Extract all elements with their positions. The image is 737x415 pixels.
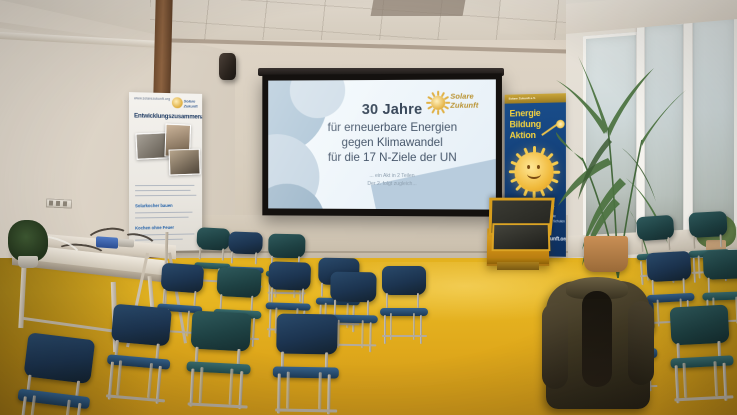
chair-back-post — [417, 293, 419, 308]
chair-back-post — [641, 239, 644, 252]
sun-ray — [547, 185, 554, 192]
banner-left-logo-text: Solare Zukunft — [184, 98, 198, 108]
banner-left-title: Entwicklungszusammenarbeit — [134, 112, 198, 120]
chair[interactable] — [106, 304, 172, 402]
banner-left-logo: Solare Zukunft — [172, 96, 199, 111]
chair-backrest — [216, 267, 261, 298]
sun-ray — [540, 189, 545, 196]
chair-back-post — [255, 252, 257, 264]
chair-backrest — [23, 332, 95, 384]
slide-line-2: gegen Klimawandel — [298, 136, 488, 150]
chair-backrest — [160, 263, 204, 294]
chair-backrest — [670, 305, 730, 346]
chair-backrest — [268, 234, 305, 259]
solar-cooker-absorber-panel — [492, 223, 551, 251]
sun-ray — [509, 171, 516, 174]
chair-backrest — [646, 251, 691, 282]
chair-back-post — [163, 289, 166, 304]
chair-backrest — [330, 272, 377, 303]
sun-ray — [515, 184, 522, 191]
projection-slide: Solare Zukunft 30 Jahre für erneuerbare … — [268, 79, 496, 209]
banner-title-line-3: Aktion — [510, 130, 542, 141]
chair-back-post — [193, 291, 196, 306]
chair-leg — [199, 367, 204, 403]
chair-back-post — [652, 280, 655, 295]
solar-cooker-stand — [497, 262, 539, 270]
chair-leg — [384, 315, 386, 344]
chair-back-post — [271, 287, 274, 302]
banner-title-line-2: Bildung — [510, 119, 542, 130]
chair-leg — [693, 258, 696, 283]
chair-backrest — [382, 266, 426, 295]
slide-text-block: 30 Jahre für erneuerbare Energien gegen … — [298, 102, 488, 189]
sun-ray — [441, 92, 445, 97]
sun-ray — [515, 153, 522, 160]
chair-back-post — [708, 278, 711, 294]
chair[interactable] — [188, 311, 252, 409]
sun-ray — [510, 178, 517, 183]
outlet-socket — [56, 201, 60, 206]
outlet-socket — [63, 201, 67, 206]
wall-speaker — [219, 53, 236, 80]
banner-right-title: Energie Bildung Aktion — [510, 108, 542, 141]
slide-heading: 30 Jahre — [298, 102, 488, 120]
banner-left-url: www.solarezukunft.org — [134, 96, 170, 101]
chair-back-post — [302, 288, 305, 303]
chair-back-post — [720, 234, 723, 247]
sun-ray — [444, 96, 449, 100]
chair-back-post — [199, 247, 202, 259]
banner-text-line — [135, 190, 190, 192]
chair-back-post — [251, 296, 254, 311]
sun-icon — [172, 97, 183, 108]
sun-ray — [533, 146, 536, 153]
sun-ray — [437, 91, 439, 96]
sun-ray — [523, 189, 528, 196]
chair-leg — [286, 372, 290, 409]
slide-subtext-2: Der 2. folgt zugleich... — [298, 180, 488, 189]
chair-leg — [116, 360, 122, 395]
slide-line-1: für erneuerbare Energien — [298, 120, 488, 134]
smiling-sun-icon — [514, 152, 553, 192]
chair-backrest — [703, 249, 737, 280]
slide-subtext: ... ein Akt in 2 Teilen Der 2. folgt zug… — [298, 172, 488, 189]
rollup-banner-left: www.solarezukunft.org Solare Zukunft Ent… — [129, 92, 202, 252]
chair-leg — [640, 261, 644, 285]
chair-backrest — [276, 313, 338, 354]
chair-back-post — [693, 236, 696, 249]
banner-text-line — [135, 185, 194, 187]
chair[interactable] — [382, 266, 426, 336]
chair-backrest — [111, 304, 172, 347]
chair-leg — [238, 371, 243, 409]
chair-leg — [147, 363, 153, 398]
chair-back-post — [231, 252, 233, 264]
jacket-sleeve — [542, 303, 568, 389]
chair-back-post — [367, 300, 369, 316]
banner-photo — [169, 149, 201, 176]
chair-seat — [266, 302, 311, 311]
chair-back-post — [386, 293, 388, 308]
projection-screen: Solare Zukunft 30 Jahre für erneuerbare … — [262, 73, 502, 216]
banner-title-line-1: Energie — [510, 108, 542, 120]
chair[interactable] — [275, 313, 338, 412]
sun-ray — [510, 161, 517, 166]
sun-ray — [427, 96, 432, 100]
sun-smile — [527, 169, 541, 179]
chair-back-post — [321, 283, 323, 297]
logo-line-1: Solare — [450, 92, 478, 101]
sun-ray — [523, 148, 528, 155]
chair-backrest — [688, 211, 727, 238]
palm-plant-pot — [584, 236, 628, 272]
banner-text-line — [135, 195, 196, 197]
banner-text-line — [135, 212, 192, 214]
seminar-room-scene: Solare Zukunft 30 Jahre für erneuerbare … — [0, 0, 737, 415]
banner-left-subhead-1: Solarkocher bauen — [135, 203, 173, 208]
banner-left-subhead-2: Kochen ohne Feuer — [135, 225, 174, 231]
chair-leg — [189, 369, 194, 407]
sun-ray — [540, 147, 545, 154]
banner-text-line — [135, 217, 188, 219]
sun-ray — [431, 92, 435, 97]
chair-leg — [318, 372, 322, 409]
slide-line-3: für die 17 N-Ziele der UN — [298, 151, 488, 165]
jacket-fold — [582, 291, 612, 387]
chair-leg — [713, 361, 718, 396]
chair-leg — [698, 256, 701, 279]
desk-plant-pot — [18, 256, 38, 268]
ceiling-vent — [371, 0, 466, 16]
chair-backrest — [268, 261, 311, 290]
chair-leg — [420, 315, 422, 344]
chair-back-post — [220, 294, 223, 309]
chair-leg — [229, 369, 234, 405]
sun-ray — [547, 153, 554, 160]
chair-back-post — [334, 300, 336, 316]
chair-back-post — [667, 237, 670, 250]
chair[interactable] — [16, 332, 96, 415]
chair[interactable] — [670, 305, 733, 401]
jacket-sleeve — [628, 301, 654, 385]
jacket-on-chair — [546, 281, 650, 409]
chair-back-post — [222, 249, 225, 261]
chair-leg — [683, 363, 688, 398]
power-outlet[interactable] — [46, 198, 72, 208]
chair-backrest — [191, 311, 252, 352]
sun-face — [524, 165, 544, 179]
logo-line-2: Zukunft — [184, 103, 198, 108]
banner-right-cap-text: Solare Zukunft e.V. — [509, 96, 536, 101]
chair-back-post — [683, 278, 686, 293]
chair-backrest — [228, 231, 263, 254]
outlet-socket — [49, 200, 53, 205]
chair-rail — [382, 335, 427, 337]
